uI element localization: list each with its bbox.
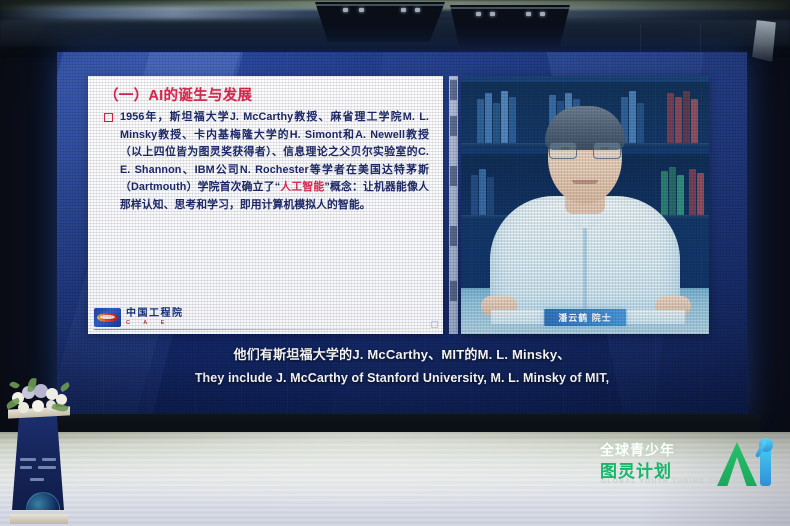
flower-arrangement [6, 378, 76, 422]
speaker-led [343, 8, 348, 12]
screen-vignette [57, 52, 747, 416]
hanging-speaker-icon [450, 5, 570, 53]
lectern [8, 386, 70, 526]
lectern-base [10, 514, 68, 524]
stage-scene: （一）AI的诞生与发展 1956年，斯坦福大学J. McCarthy教授、麻省理… [0, 0, 790, 526]
lectern-body [12, 414, 64, 510]
speaker-led [526, 12, 531, 16]
speaker-led [476, 12, 481, 16]
hall-ceiling [0, 0, 790, 58]
speaker-yoke [445, 7, 579, 12]
speaker-yoke [310, 4, 454, 9]
speaker-led [490, 12, 495, 16]
speaker-led [540, 12, 545, 16]
ai-mark-icon [717, 438, 783, 488]
program-logo: 全球青少年 图灵计划 GLOBAL YOUTH TURING PROGRAM [600, 440, 785, 492]
led-video-wall: （一）AI的诞生与发展 1956年，斯坦福大学J. McCarthy教授、麻省理… [57, 52, 747, 416]
speaker-led [401, 8, 406, 12]
speaker-led [415, 8, 420, 12]
speaker-led [359, 8, 364, 12]
hanging-speaker-icon [315, 2, 445, 42]
